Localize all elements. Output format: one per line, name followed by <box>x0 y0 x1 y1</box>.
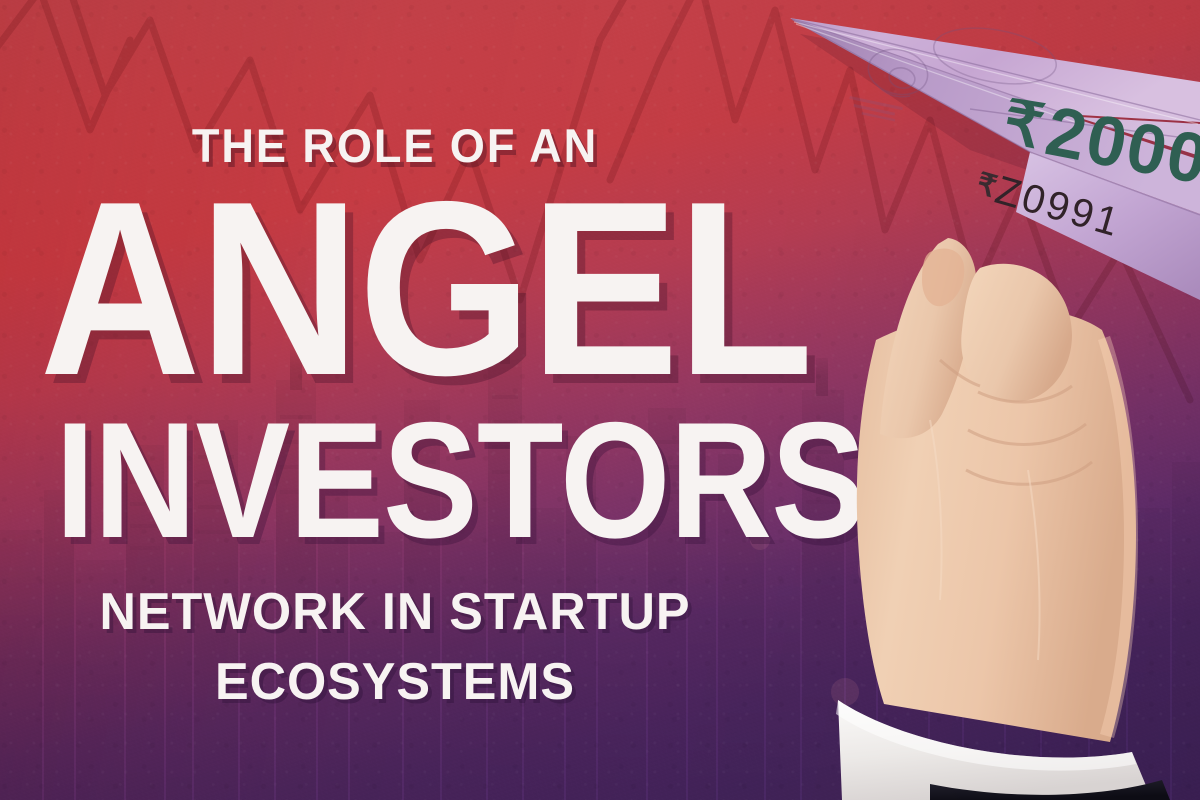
subline-network: NETWORK IN STARTUP <box>12 582 778 642</box>
headline-primary: ANGEL <box>40 182 751 395</box>
subline-ecosystems: ECOSYSTEMS <box>12 652 778 712</box>
angel-investors-banner: THE ROLE OF AN ANGEL INVESTORS NETWORK I… <box>0 0 1200 800</box>
headline-text-block: THE ROLE OF AN ANGEL INVESTORS NETWORK I… <box>0 0 790 800</box>
headline-secondary: INVESTORS <box>55 410 734 552</box>
